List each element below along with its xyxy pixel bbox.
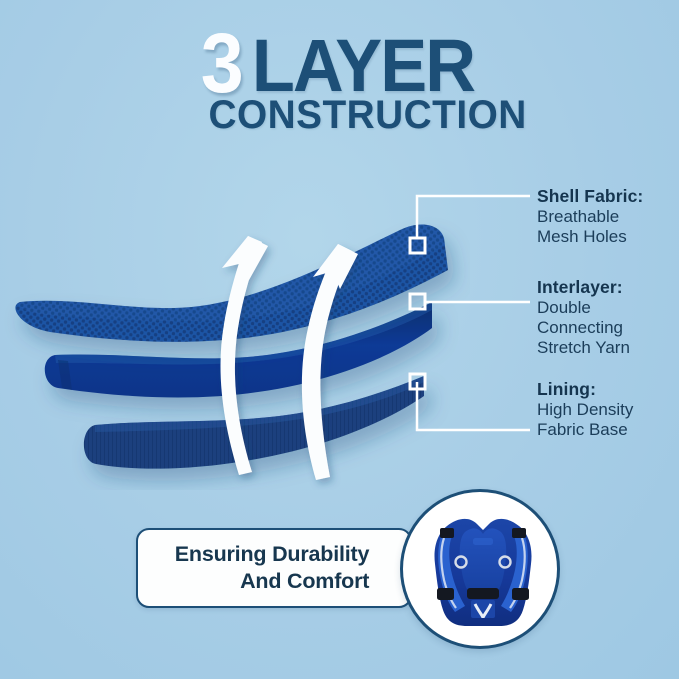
callout-heading: Lining: xyxy=(537,379,633,399)
callout-interlayer: Interlayer: Double Connecting Stretch Ya… xyxy=(537,277,630,357)
callout-line: Fabric Base xyxy=(537,420,633,440)
callout-line: Double xyxy=(537,298,630,318)
product-image-circle xyxy=(400,489,560,649)
callout-line: Mesh Holes xyxy=(537,227,643,247)
callout-line: Breathable xyxy=(537,207,643,227)
marker-interlayer xyxy=(410,294,425,309)
callout-heading: Interlayer: xyxy=(537,277,630,297)
dog-harness-illustration xyxy=(403,492,560,649)
callout-line: Stretch Yarn xyxy=(537,338,630,358)
tagline-text: Ensuring Durability And Comfort xyxy=(165,541,384,594)
callout-line: High Density xyxy=(537,400,633,420)
tagline-banner: Ensuring Durability And Comfort xyxy=(136,528,412,608)
tagline-line-1: Ensuring Durability xyxy=(175,542,370,566)
tagline-line-2: And Comfort xyxy=(240,569,369,593)
infographic-canvas: 3 LAYER CONSTRUCTION xyxy=(0,0,679,679)
callout-line: Connecting xyxy=(537,318,630,338)
marker-shell-fabric xyxy=(410,238,425,253)
callout-heading: Shell Fabric: xyxy=(537,186,643,206)
callout-shell-fabric: Shell Fabric: Breathable Mesh Holes xyxy=(537,186,643,247)
callout-lining: Lining: High Density Fabric Base xyxy=(537,379,633,440)
